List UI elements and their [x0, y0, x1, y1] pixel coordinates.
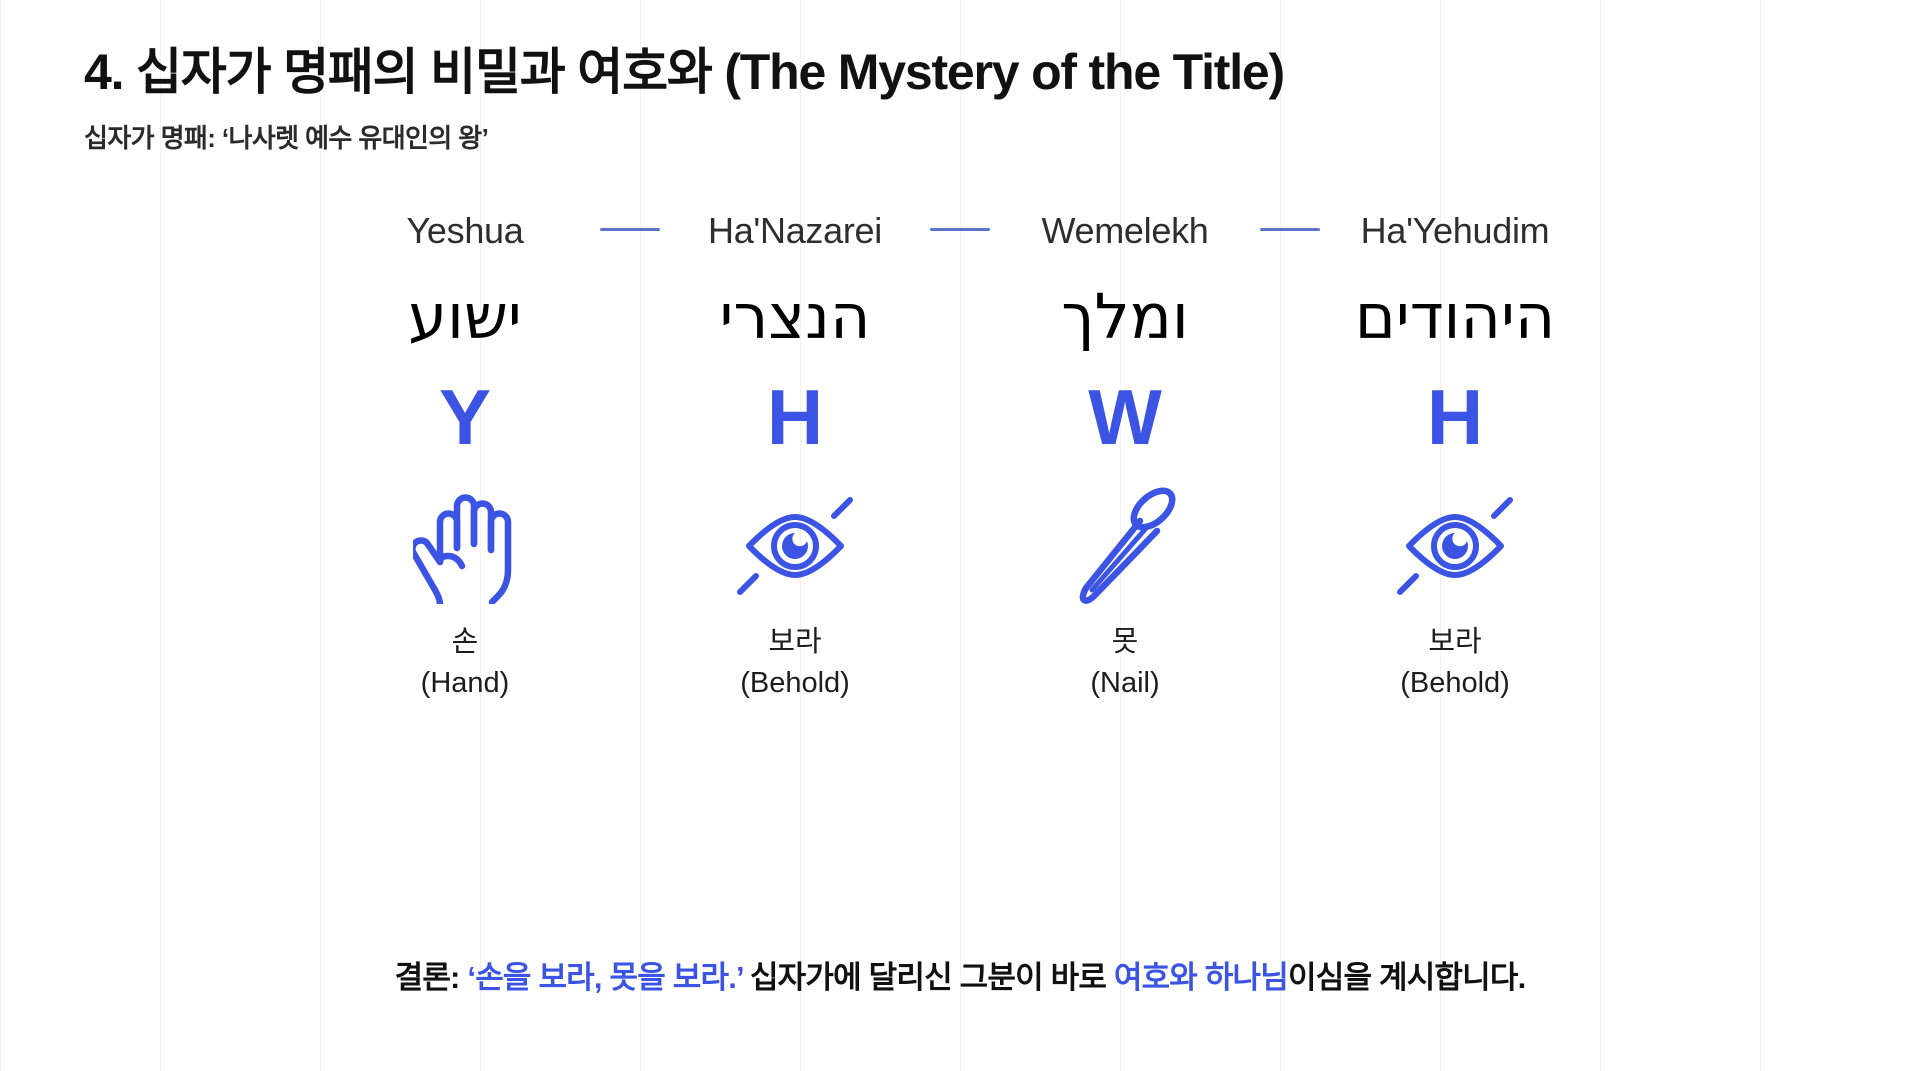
- letter-row: Y H W H: [300, 378, 1620, 456]
- meaning-en-3: (Nail): [990, 663, 1260, 704]
- meaning-row: 손 (Hand) 보라 (Behold) 못 (Nail) 보라 (Behold…: [300, 622, 1620, 704]
- connector-line-1: [600, 228, 660, 231]
- meaning-cell-1: 손 (Hand): [330, 622, 600, 704]
- slide-canvas: 4. 십자가 명패의 비밀과 여호와 (The Mystery of the T…: [0, 0, 1920, 1071]
- hebrew-row: ישוע הנצרי ומלך היהודים: [300, 281, 1620, 352]
- title-breakdown-table: Yeshua Ha'Nazarei Wemelekh Ha'Yehudim יש…: [0, 211, 1920, 704]
- hebrew-cell-3: ומלך: [990, 281, 1260, 352]
- hebrew-cell-2: הנצרי: [660, 281, 930, 352]
- conclusion-statement: 결론: ‘손을 보라, 못을 보라.’ 십자가에 달리신 그분이 바로 여호와 …: [0, 952, 1920, 997]
- meaning-ko-2: 보라: [660, 622, 930, 663]
- icon-row: [300, 486, 1620, 606]
- transliteration-cell-2: Ha'Nazarei: [660, 211, 930, 251]
- nail-icon: [1070, 487, 1180, 605]
- meaning-ko-1: 손: [330, 622, 600, 663]
- meaning-cell-4: 보라 (Behold): [1320, 622, 1590, 704]
- transliteration-cell-1: Yeshua: [330, 211, 600, 251]
- meaning-en-4: (Behold): [1320, 663, 1590, 704]
- transliteration-cell-4: Ha'Yehudim: [1320, 211, 1590, 251]
- letter-cell-1: Y: [330, 378, 600, 456]
- page-subtitle: 십자가 명패: ‘나사렛 예수 유대인의 왕’: [84, 118, 1920, 155]
- letter-cell-4: H: [1320, 378, 1590, 456]
- conclusion-middle: 십자가에 달리신 그분이 바로: [743, 960, 1114, 995]
- conclusion-emphasis: 여호와 하나님: [1114, 960, 1288, 995]
- conclusion-tail: 이심을 계시합니다.: [1288, 960, 1525, 995]
- conclusion-lead: 결론:: [395, 960, 468, 995]
- meaning-en-2: (Behold): [660, 663, 930, 704]
- eye-icon: [1391, 496, 1519, 596]
- meaning-en-1: (Hand): [330, 663, 600, 704]
- letter-cell-3: W: [990, 378, 1260, 456]
- icon-cell-1: [330, 486, 600, 606]
- connector-line-2: [930, 228, 990, 231]
- transliteration-row: Yeshua Ha'Nazarei Wemelekh Ha'Yehudim: [300, 211, 1620, 251]
- icon-cell-4: [1320, 486, 1590, 606]
- meaning-ko-4: 보라: [1320, 622, 1590, 663]
- meaning-ko-3: 못: [990, 622, 1260, 663]
- meaning-cell-3: 못 (Nail): [990, 622, 1260, 704]
- hand-icon: [413, 488, 517, 604]
- transliteration-cell-3: Wemelekh: [990, 211, 1260, 251]
- eye-icon: [731, 496, 859, 596]
- hebrew-cell-4: היהודים: [1320, 281, 1590, 352]
- letter-cell-2: H: [660, 378, 930, 456]
- hebrew-cell-1: ישוע: [330, 281, 600, 352]
- icon-cell-2: [660, 486, 930, 606]
- connector-line-3: [1260, 228, 1320, 231]
- icon-cell-3: [990, 486, 1260, 606]
- meaning-cell-2: 보라 (Behold): [660, 622, 930, 704]
- conclusion-quote: ‘손을 보라, 못을 보라.’: [467, 960, 743, 995]
- page-title: 4. 십자가 명패의 비밀과 여호와 (The Mystery of the T…: [84, 44, 1920, 100]
- slide-header: 4. 십자가 명패의 비밀과 여호와 (The Mystery of the T…: [0, 0, 1920, 155]
